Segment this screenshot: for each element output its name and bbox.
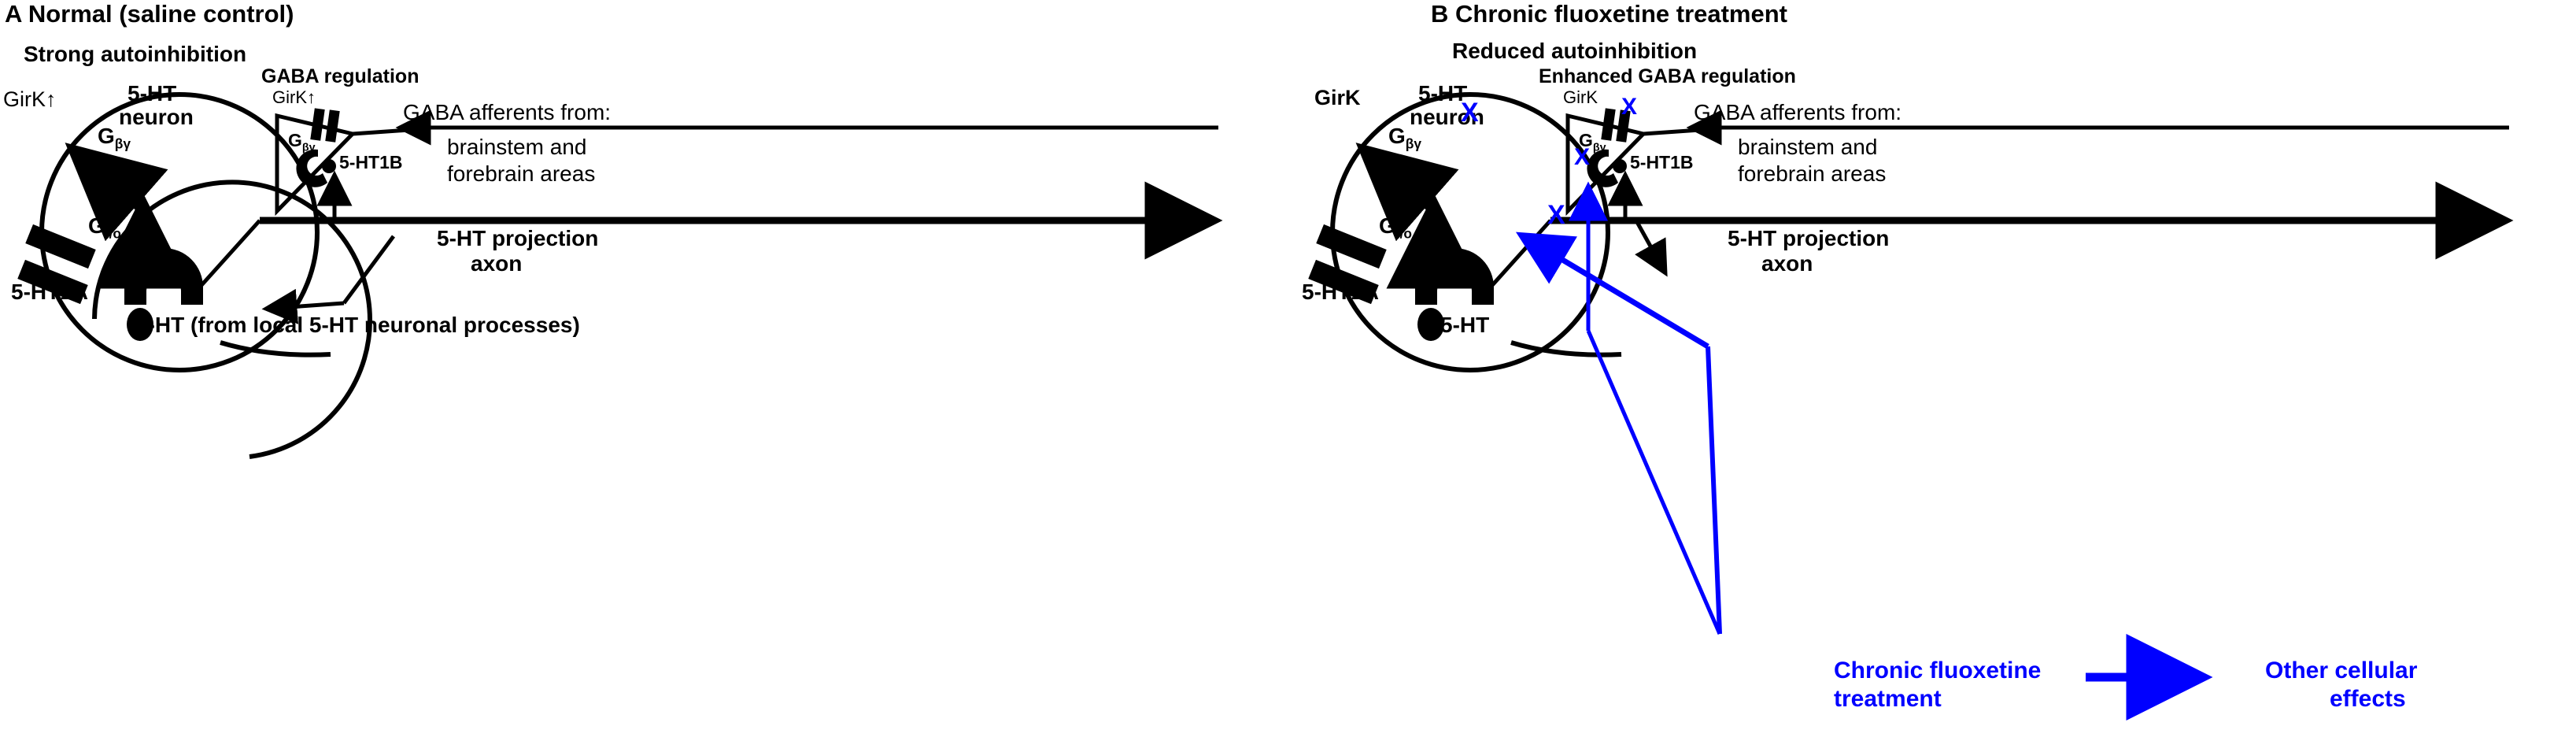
panel-b-soma-girk-label: GirK [1314,87,1361,109]
panel-b-neuron-label-line1: 5-HT [1418,82,1467,105]
panel-a-afferents-line1: GABA afferents from: [403,101,611,124]
panel-a-soma-girk-label: GirK↑ [3,88,57,110]
panel-b-afferents-line1: GABA afferents from: [1694,101,1902,124]
panel-b-afferents-line3: forebrain areas [1738,162,1886,185]
panel-b-axon-label-line2: axon [1761,252,1813,275]
panel-a-gio-label: Gi/o [88,214,121,241]
panel-a-receptor-1a-label: 5-HT1A [11,280,88,303]
panel-a-ligand-caption: 5-HT (from local 5-HT neuronal processes… [135,313,580,336]
gbg-arrow-soma-a [75,151,150,217]
panel-a-afferents-line3: forebrain areas [447,162,595,185]
panel-b-gaba-regulation-label: Enhanced GABA regulation [1539,66,1796,87]
x-block-icon-soma-gbg: X [1547,202,1565,230]
panel-b-gio-label: Gi/o [1379,214,1412,241]
gbg-arrow-soma-b [1366,151,1440,217]
panel-b-axon-label-line1: 5-HT projection [1728,227,1889,250]
panel-a-gbg-terminal-label: Gβγ [288,131,316,154]
fluoxetine-annotation-line2: treatment [1834,687,1942,712]
panel-a-afferents-line2: brainstem and [447,135,586,158]
panel-a-neuron-label-line1: 5-HT [128,82,176,105]
panel-b-receptor-1a-label: 5-HT1A [1302,280,1379,303]
panel-b-gbg-soma-label: Gβγ [1388,124,1421,151]
fluoxetine-stem-right [1588,331,1720,634]
panel-b-receptor-1b-label: 5-HT1B [1630,153,1694,172]
gbg-term-a-base: G [288,130,302,150]
panel-a-gbg-soma-label: Gβγ [98,124,131,151]
gbg-term-b-sub: βγ [1593,142,1606,154]
panel-a-autoinhibition-label: Strong autoinhibition [24,43,246,65]
panel-a-artwork [17,94,1218,457]
panel-a-axon-label-line1: 5-HT projection [437,227,598,250]
gbg-term-a-sub: βγ [302,142,316,154]
panel-a-receptor-1b-label: 5-HT1B [339,153,403,172]
x-block-icon-soma-girk: X [1461,99,1479,128]
panel-b-title: B Chronic fluoxetine treatment [1431,2,1787,28]
gbg-soma-a-sub: βγ [115,136,131,152]
panel-b-artwork [1308,94,2509,677]
gbg-soma-b-base: G [1388,124,1406,148]
ligand-dot-icon-1b-b [1613,159,1627,173]
ligand-dot-icon-1b-a [322,159,336,173]
gio-a-base: G [88,213,105,238]
fluoxetine-annotation-line1: Chronic fluoxetine [1834,658,2041,683]
panel-b-terminal-girk-label: GirK [1563,88,1598,106]
fluoxetine-to-soma-arrow [1523,236,1708,346]
reduced-local-5ht-arrow-b [1637,222,1665,272]
panel-a-title: A Normal (saline control) [5,2,294,28]
x-block-icon-terminal-girk: X [1621,94,1637,120]
gio-a-sub: i/o [105,226,121,242]
gio-b-sub: i/o [1396,226,1412,242]
gbg-soma-b-sub: βγ [1406,136,1421,152]
figure-canvas: A Normal (saline control) Strong autoinh… [0,0,2576,752]
other-effects-line2: effects [2330,687,2406,712]
panel-a-axon-label-line2: axon [471,252,522,275]
diagram-artwork [0,0,2576,752]
gbg-soma-a-base: G [98,124,115,148]
other-effects-line1: Other cellular [2265,658,2417,683]
panel-b-afferents-line2: brainstem and [1738,135,1877,158]
x-block-icon-terminal-gbg: X [1574,145,1590,170]
gio-b-base: G [1379,213,1396,238]
panel-a-gaba-regulation-label: GABA regulation [261,66,419,87]
fluoxetine-stem-left [1708,346,1720,634]
local-5ht-feedback-arrow-a [268,303,344,309]
panel-b-autoinhibition-label: Reduced autoinhibition [1452,39,1697,62]
panel-a-terminal-girk-label: GirK↑ [272,88,316,106]
panel-b-ligand-caption: 5-HT [1440,313,1489,336]
